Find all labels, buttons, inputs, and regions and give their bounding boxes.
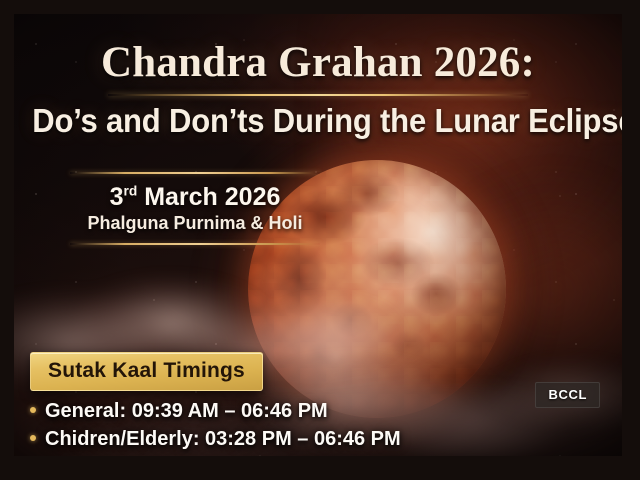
event-date: 3rd March 2026 [70, 183, 320, 212]
poster-frame: Chandra Grahan 2026: Do’s and Don’ts Dur… [0, 0, 640, 480]
date-divider-bottom [70, 243, 320, 245]
poster-artwork: Chandra Grahan 2026: Do’s and Don’ts Dur… [14, 14, 622, 456]
watermark: BCCL [535, 382, 600, 408]
list-item: General: 09:39 AM – 06:46 PM [30, 400, 401, 423]
status-badge: Sutak Kaal Timings [30, 352, 263, 391]
timing-text: General: 09:39 AM – 06:46 PM [45, 400, 328, 423]
bullet-icon [30, 407, 36, 413]
date-block: 3rd March 2026 Phalguna Purnima & Holi [70, 172, 320, 245]
event-date-month-year: March 2026 [137, 183, 280, 211]
bullet-icon [30, 435, 36, 441]
event-date-ordinal: rd [124, 184, 138, 199]
list-item: Chidren/Elderly: 03:28 PM – 06:46 PM [30, 428, 401, 451]
event-date-occasion: Phalguna Purnima & Holi [70, 213, 320, 234]
date-divider-top [70, 172, 320, 174]
sutak-timings-list: General: 09:39 AM – 06:46 PM Chidren/Eld… [30, 400, 401, 456]
poster-content: Chandra Grahan 2026: Do’s and Don’ts Dur… [14, 14, 622, 456]
page-title: Chandra Grahan 2026: [14, 40, 622, 85]
page-subtitle: Do’s and Don’ts During the Lunar Eclipse [32, 103, 604, 139]
timing-text: Chidren/Elderly: 03:28 PM – 06:46 PM [45, 428, 401, 451]
title-divider [108, 94, 528, 96]
event-date-day: 3 [110, 183, 124, 211]
title-block: Chandra Grahan 2026: Do’s and Don’ts Dur… [14, 40, 622, 139]
